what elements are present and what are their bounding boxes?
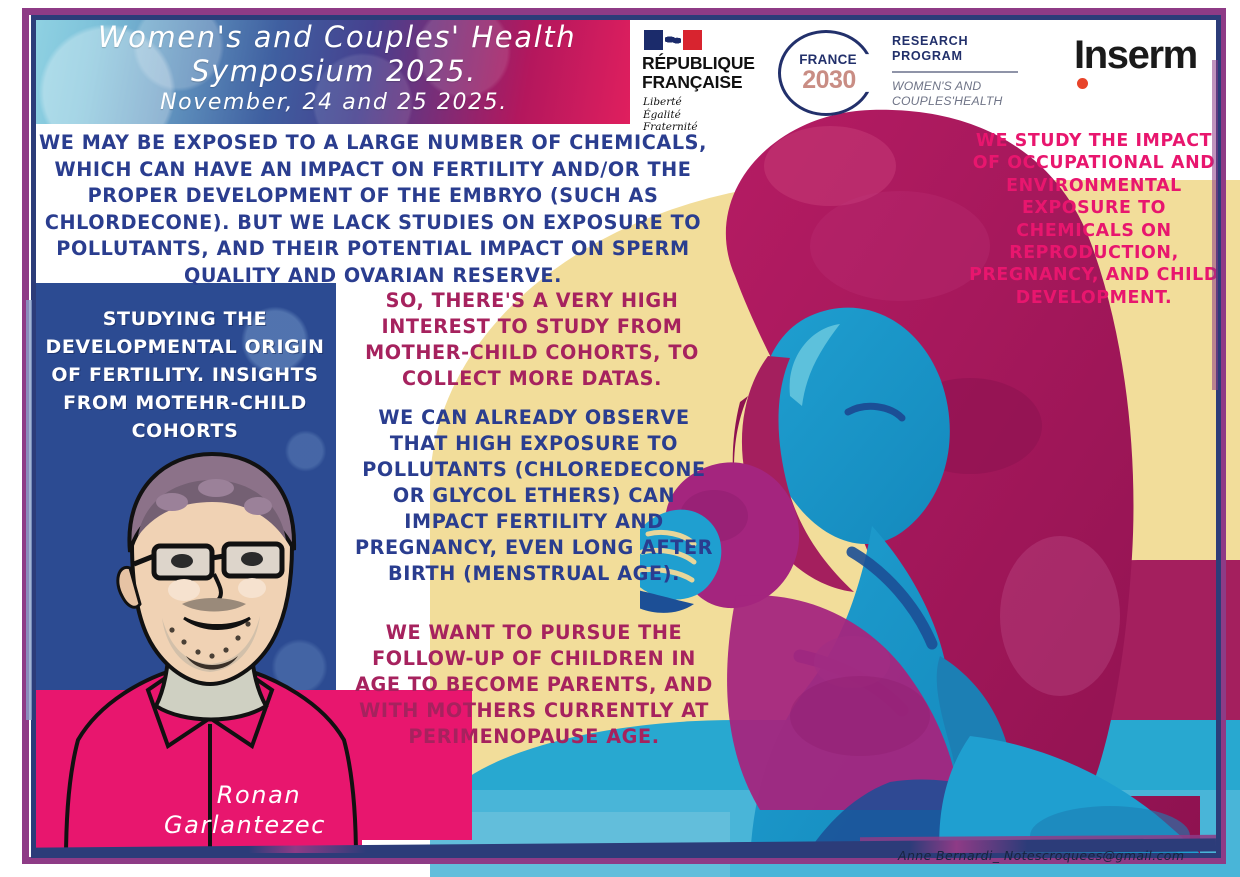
quote-cohorts: SO, THERE'S A VERY HIGH INTEREST TO STUD… — [356, 288, 708, 392]
page-title-line-1: Women's and Couples' Health — [44, 20, 624, 54]
motto-egalite: Égalité — [643, 109, 764, 122]
france2030-word: FRANCE — [790, 52, 866, 67]
quote-right: WE STUDY THE IMPACT OF OCCUPATIONAL AND … — [968, 130, 1220, 309]
research-program-logo: RESEARCH PROGRAM WOMEN'S AND COUPLES'HEA… — [892, 34, 1022, 109]
speaker-name: Ronan Garlantezec — [120, 780, 370, 840]
motto-fraternite: Fraternité — [643, 121, 764, 134]
quote-followup: WE WANT TO PURSUE THE FOLLOW-UP OF CHILD… — [354, 620, 714, 750]
page-title-line-3: November, 24 and 25 2025. — [44, 88, 624, 118]
talk-title-text: STUDYING THE DEVELOPMENTAL ORIGIN OF FER… — [40, 305, 330, 445]
inserm-wordmark: Inserm — [1074, 34, 1224, 76]
research-program-divider — [892, 71, 1018, 73]
frame-accent-left — [26, 300, 32, 720]
research-program-line-2: PROGRAM — [892, 49, 1022, 64]
poster-canvas: Women's and Couples' Health Symposium 20… — [0, 0, 1240, 877]
illustrator-credit: Anne Bernardi_ Notescroquees@gmail.com — [898, 848, 1218, 863]
inserm-logo: Inserm — [1074, 34, 1224, 89]
research-program-sub-2: COUPLES'HEALTH — [892, 94, 1022, 109]
speaker-first-name: Ronan — [120, 780, 370, 810]
speaker-last-name: Garlantezec — [120, 810, 370, 840]
inserm-dot-icon — [1077, 78, 1088, 89]
republique-motto: Liberté Égalité Fraternité — [636, 92, 764, 134]
motto-liberte: Liberté — [643, 96, 764, 109]
republique-line-2: FRANÇAISE — [636, 73, 764, 92]
republique-line-1: RÉPUBLIQUE — [636, 54, 764, 73]
republique-francaise-logo: RÉPUBLIQUE FRANÇAISE Liberté Égalité Fra… — [636, 30, 764, 134]
france2030-year: 2030 — [786, 66, 872, 95]
page-title: Women's and Couples' Health Symposium 20… — [44, 20, 624, 118]
french-flag-icon — [644, 30, 702, 50]
quote-pollutants: WE CAN ALREADY OBSERVE THAT HIGH EXPOSUR… — [354, 405, 714, 587]
research-program-sub-1: WOMEN'S AND — [892, 79, 1022, 94]
page-title-line-2: Symposium 2025. — [44, 54, 624, 88]
frame-accent-right — [1212, 60, 1218, 390]
intro-paragraph: WE MAY BE EXPOSED TO A LARGE NUMBER OF C… — [28, 130, 718, 289]
research-program-line-1: RESEARCH — [892, 34, 1022, 49]
logo-row: RÉPUBLIQUE FRANÇAISE Liberté Égalité Fra… — [636, 22, 1226, 124]
france-2030-logo: FRANCE 2030 — [772, 24, 884, 122]
